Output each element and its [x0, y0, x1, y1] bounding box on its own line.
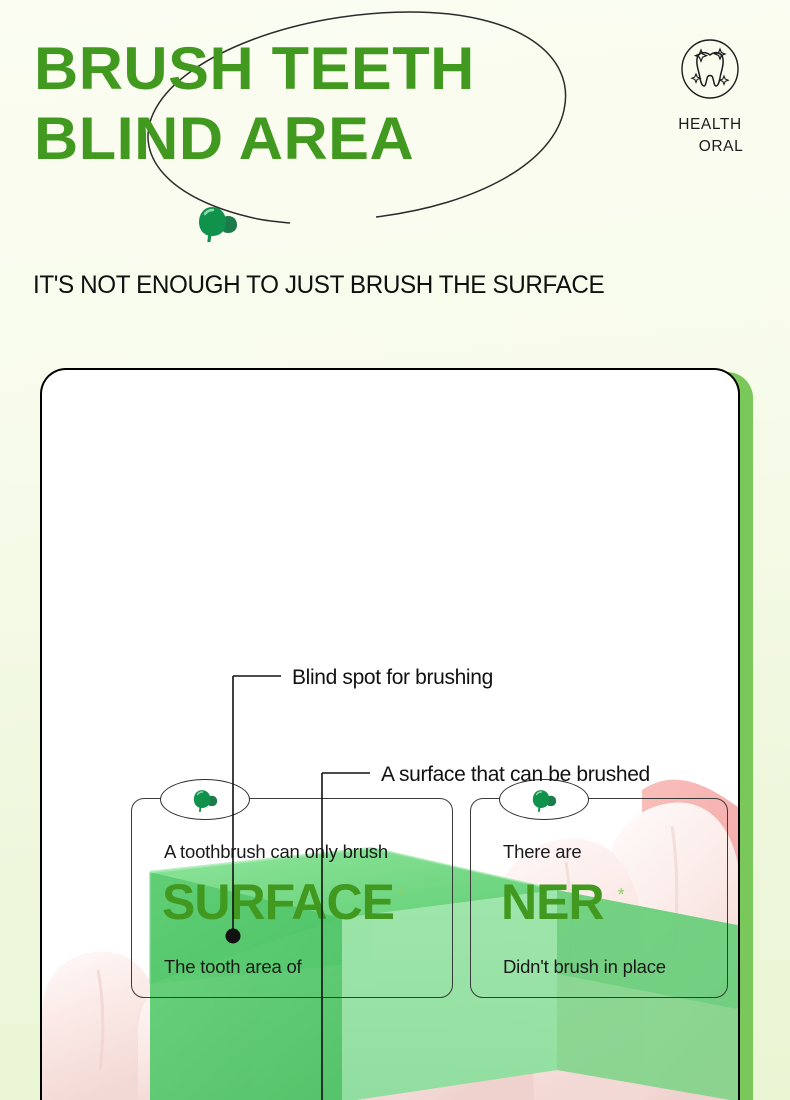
card-badge [160, 779, 250, 820]
card-highlight: NER* [501, 877, 624, 927]
tooth-sparkle-icon [679, 38, 741, 100]
page-title-line-1: BRUSH TEETH [34, 34, 605, 104]
page-subtitle: IT'S NOT ENOUGH TO JUST BRUSH THE SURFAC… [33, 271, 604, 300]
page-title: BRUSH TEETH BLIND AREA [34, 34, 605, 173]
brand-text: HEALTH ORAL [650, 114, 770, 159]
brand-line-1: HEALTH [678, 116, 742, 133]
card-highlight-mark: * [398, 885, 404, 905]
leaf-icon [196, 204, 240, 242]
leaf-icon [192, 788, 219, 812]
brand-block: HEALTH ORAL [650, 38, 770, 159]
header-section: BRUSH TEETH BLIND AREA HEALTH ORAL IT'S … [0, 0, 790, 330]
callout-label-0: Blind spot for brushing [292, 666, 493, 690]
card-bottom-text: Didn't brush in place [503, 956, 666, 978]
card-highlight-text: SURFACE [162, 874, 394, 930]
card-top-text: A toothbrush can only brush [164, 841, 388, 863]
main-panel: A toothbrush can only brush SURFACE* The… [40, 368, 740, 1100]
card-highlight: SURFACE* [162, 877, 404, 927]
brand-line-2: ORAL [650, 136, 770, 158]
card-bottom-text: The tooth area of [164, 956, 302, 978]
card-top-text: There are [503, 841, 581, 863]
info-card-1[interactable]: There are NER* Didn't brush in place [470, 798, 728, 998]
card-highlight-mark: * [618, 885, 624, 905]
card-highlight-text: NER [501, 874, 604, 930]
leaf-icon [531, 788, 558, 812]
callout-label-1: A surface that can be brushed [381, 763, 650, 787]
page-title-line-2: BLIND AREA [34, 104, 605, 174]
info-card-0[interactable]: A toothbrush can only brush SURFACE* The… [131, 798, 453, 998]
